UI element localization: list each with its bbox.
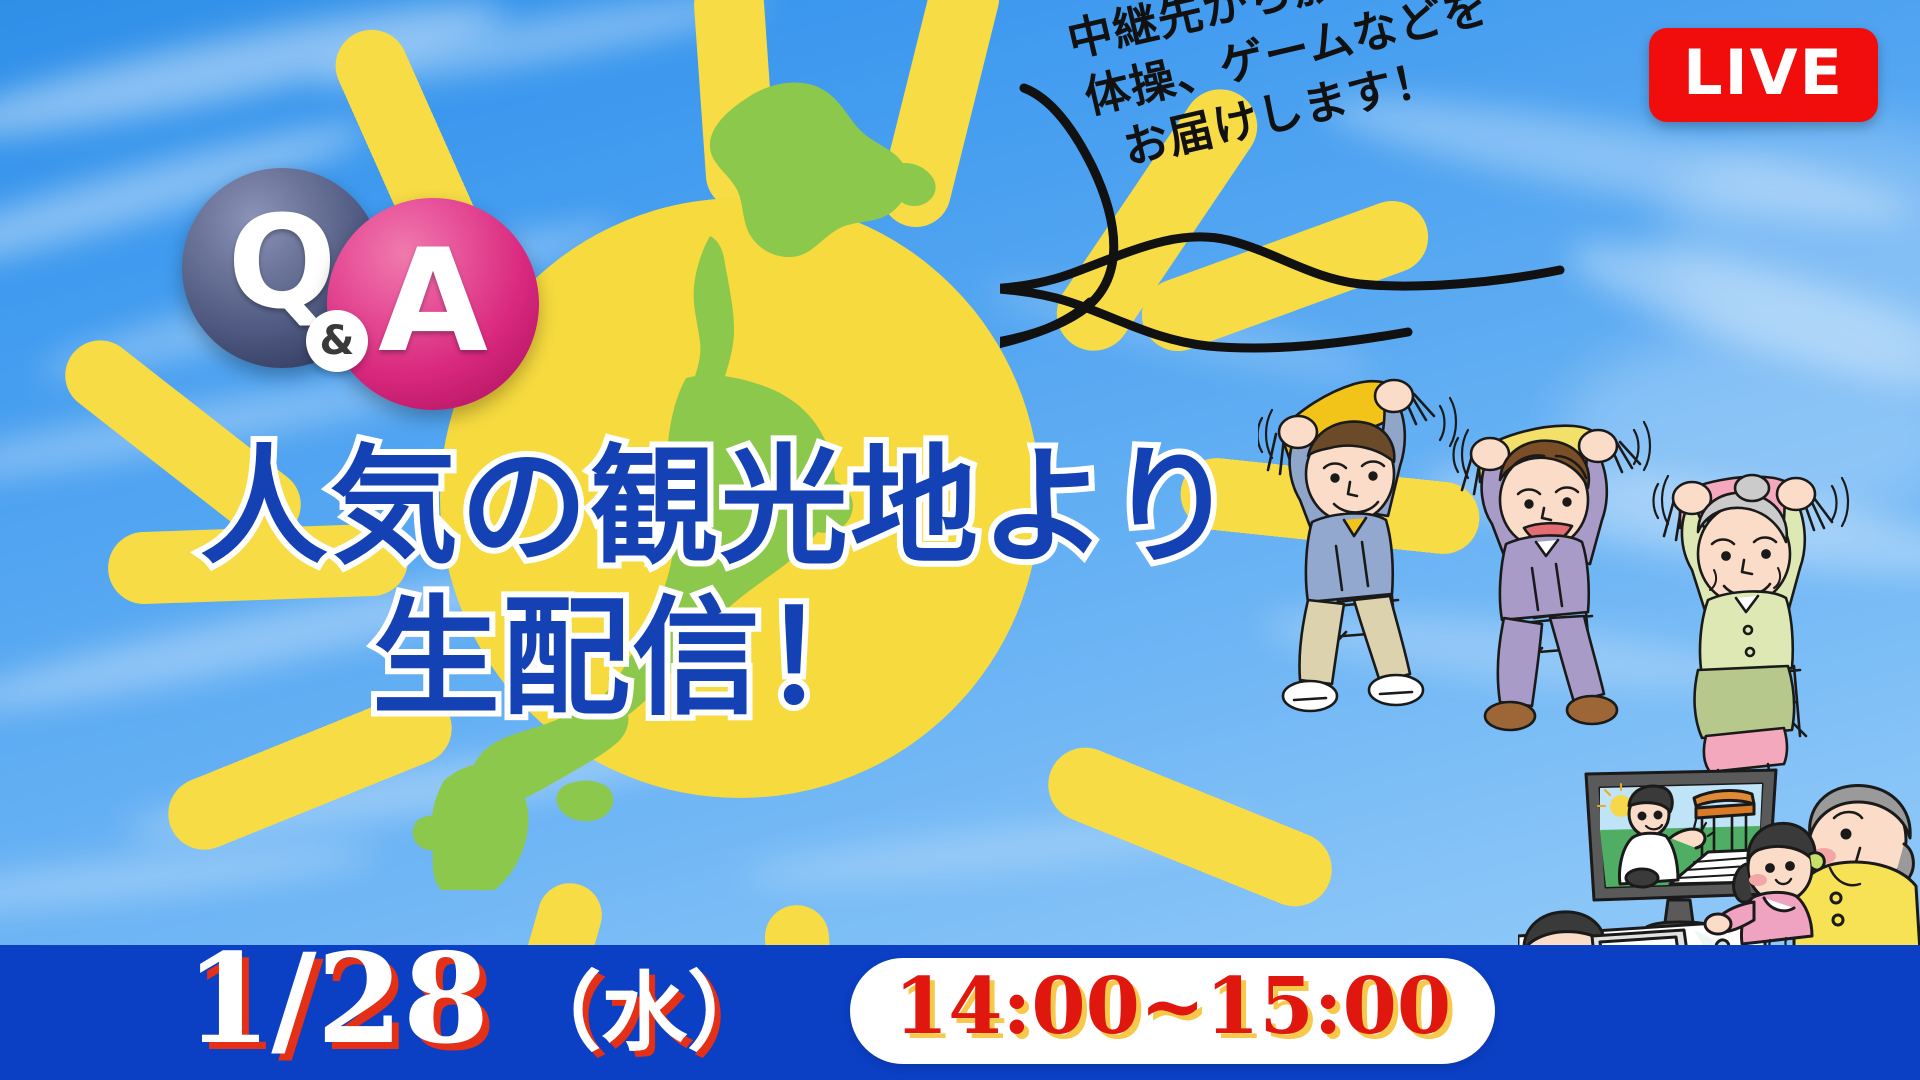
qa-logo-a-letter: A xyxy=(378,231,488,373)
broadcast-time-pill: 14:00~15:00 xyxy=(850,958,1495,1064)
qa-logo-a-ball: A xyxy=(327,198,539,410)
qa-logo-q-letter: Q xyxy=(228,200,337,328)
broadcast-date-block: 1/28 （水） xyxy=(185,938,773,1062)
callout-text-block: 中継先から旅やクイズ、 体操、ゲームなどを お届けします！ xyxy=(1062,0,1686,185)
headline-line-1: 人気の観光地より xyxy=(200,438,1260,579)
headline-line-2: 生配信！ xyxy=(200,589,1260,730)
broadcast-date: 1/28 xyxy=(185,938,489,1062)
qa-logo: Q A & xyxy=(182,168,562,428)
broadcast-weekday: （水） xyxy=(515,970,773,1056)
live-stream-promo-banner: Q A & LIVE 中継先から旅やクイズ、 体操、ゲームなどを お届けします！… xyxy=(0,0,1920,1080)
broadcast-time: 14:00~15:00 xyxy=(894,961,1451,1052)
headline-block: 人気の観光地より 生配信！ xyxy=(200,438,1260,730)
qa-logo-ampersand: & xyxy=(306,310,368,372)
seniors-chair-exercise-illustration xyxy=(1258,370,1868,770)
callout-annotation: 中継先から旅やクイズ、 体操、ゲームなどを お届けします！ xyxy=(1020,0,1660,330)
